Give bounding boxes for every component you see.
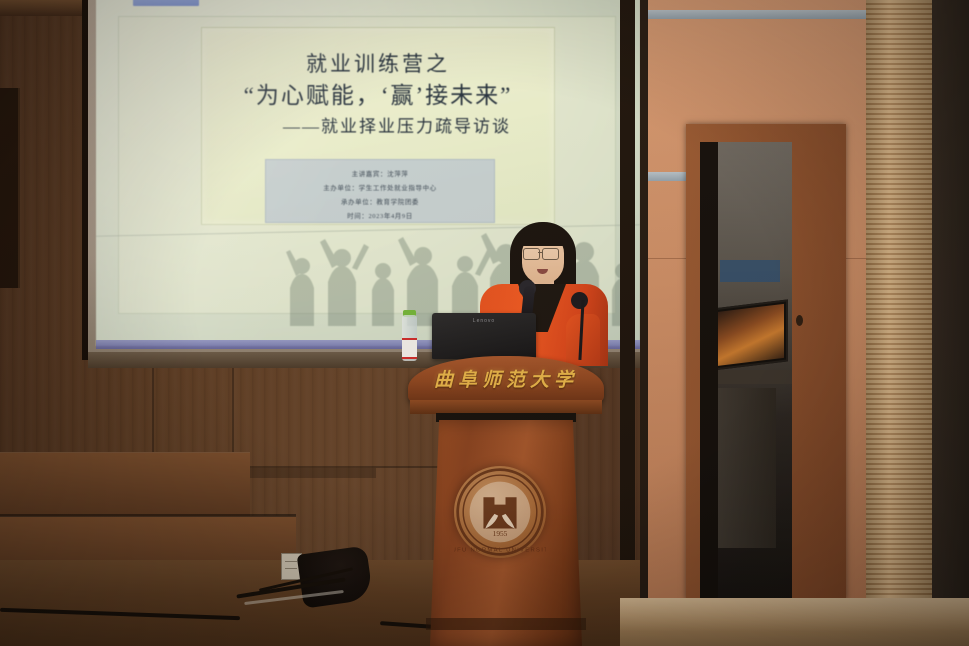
lectern-podium: 曲阜师范大学 1955 QUFU NORMAL UNIVERSITY	[408, 356, 604, 646]
slide-title-line-2: “为心赋能，‘赢’接未来”	[202, 76, 554, 110]
control-room-monitor	[712, 299, 788, 370]
podium-base-band	[426, 618, 586, 630]
outlet-slot	[285, 568, 297, 569]
slide-title-line-3: ——就业择业压力疏导访谈	[202, 112, 554, 137]
laptop-brand-label: Lenovo	[432, 318, 536, 324]
door-knob[interactable]	[796, 315, 803, 326]
stage-step-upper	[0, 452, 250, 517]
speaker-glasses-left	[523, 248, 540, 260]
slide-credit-speaker: 主讲嘉宾：沈萍萍	[266, 168, 494, 178]
lenovo-laptop: Lenovo	[432, 313, 536, 359]
gooseneck-microphone-head	[571, 292, 588, 309]
floor-reflection-sheen	[620, 598, 969, 646]
wall-recess-panel	[0, 88, 20, 288]
slide-credit-co-organizer: 承办单位：教育学院团委	[266, 196, 494, 206]
step-shadow	[0, 514, 296, 517]
projector-ui-bar	[133, 0, 199, 6]
slide-credits-panel: 主讲嘉宾：沈萍萍 主办单位：学生工作处就业指导中心 承办单位：教育学院团委 时间…	[265, 159, 495, 223]
speaker-glasses-bridge	[538, 252, 543, 253]
control-room-desk	[706, 370, 792, 384]
lecture-hall-photo: 就业训练营之 “为心赋能，‘赢’接未来” ——就业择业压力疏导访谈 主讲嘉宾：沈…	[0, 0, 969, 646]
wall-stripe-upper	[648, 10, 870, 19]
podium-lip	[410, 400, 602, 414]
podium-engraved-name: 曲阜师范大学	[408, 365, 604, 392]
slide-credit-organizer: 主办单位：学生工作处就业指导中心	[266, 182, 494, 192]
slide-title-line-1: 就业训练营之	[202, 48, 554, 78]
university-emblem: 1955 QUFU NORMAL UNIVERSITY	[454, 466, 546, 558]
door-leaf[interactable]	[700, 142, 718, 600]
control-room-blue-equipment	[720, 260, 780, 282]
slat-panel-shading	[866, 0, 932, 600]
speaker-glasses-right	[542, 248, 559, 260]
outlet-slot	[285, 561, 297, 562]
dark-column-left	[620, 0, 635, 646]
dark-column-right	[932, 0, 969, 600]
speaker-bangs	[518, 226, 568, 246]
control-room-monitor-screen	[716, 304, 784, 366]
control-room-equipment-rack	[714, 388, 776, 548]
podium-top-arch: 曲阜师范大学	[408, 356, 604, 402]
svg-text:QUFU NORMAL UNIVERSITY: QUFU NORMAL UNIVERSITY	[454, 548, 546, 554]
svg-text:1955: 1955	[493, 529, 508, 538]
